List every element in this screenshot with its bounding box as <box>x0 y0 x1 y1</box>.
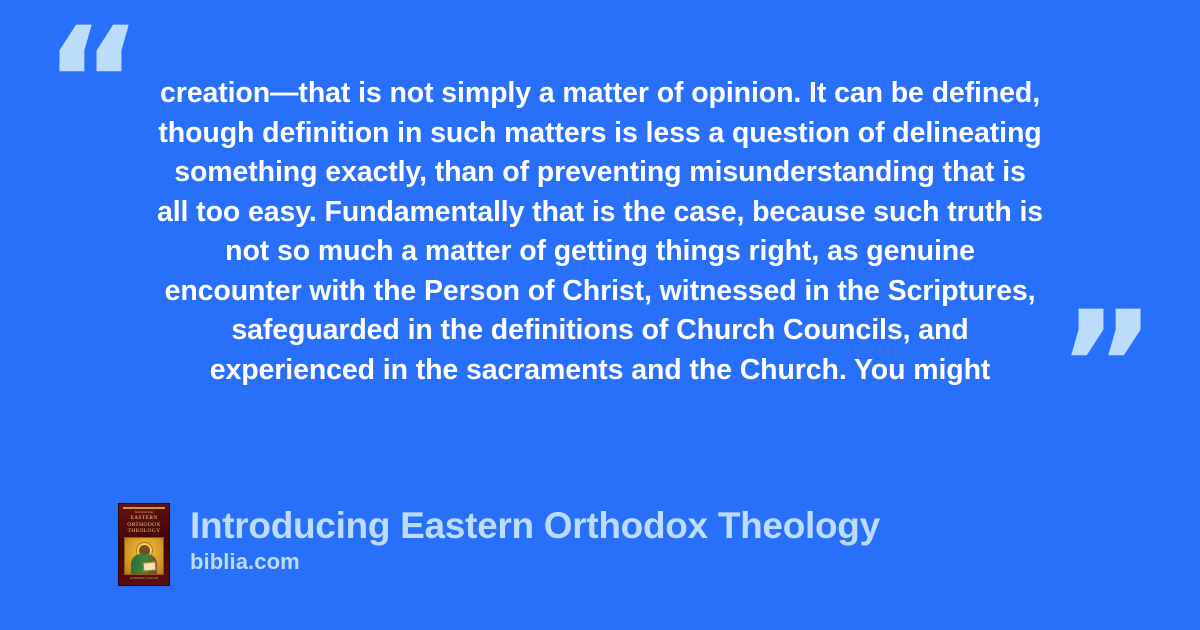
book-cover-title: Eastern Orthodox Theology <box>119 515 169 535</box>
book-cover-title-line-2: Orthodox <box>119 522 169 529</box>
book-cover-rule <box>123 507 165 509</box>
quote-text: creation—that is not simply a matter of … <box>110 74 1090 390</box>
book-cover-author: Andrew Louth <box>119 576 169 580</box>
book-title: Introducing Eastern Orthodox Theology <box>190 504 880 548</box>
quote-card: “ creation—that is not simply a matter o… <box>0 0 1200 630</box>
closing-quote-mark-icon: ” <box>1057 292 1154 442</box>
attribution-text-group: Introducing Eastern Orthodox Theology bi… <box>190 503 880 576</box>
quote-block: creation—that is not simply a matter of … <box>110 74 1090 390</box>
site-name: biblia.com <box>190 548 880 576</box>
book-cover-title-line-3: Theology <box>119 528 169 535</box>
saint-figure-book-icon <box>143 561 157 571</box>
book-cover-title-line-1: Eastern <box>119 515 169 522</box>
attribution: Introducing Eastern Orthodox Theology An… <box>118 503 880 586</box>
book-cover-kicker: Introducing <box>119 510 169 514</box>
book-cover-thumbnail: Introducing Eastern Orthodox Theology An… <box>118 503 170 586</box>
book-cover-icon-artwork <box>124 537 164 575</box>
